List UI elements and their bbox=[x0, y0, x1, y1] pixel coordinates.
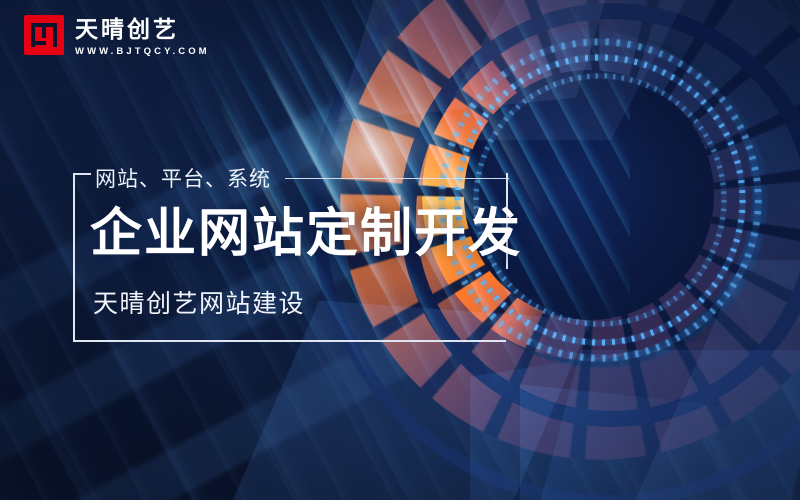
eyebrow-row: 网站、平台、系统 bbox=[95, 163, 515, 193]
logo-mark-icon bbox=[24, 15, 64, 55]
brand-logo[interactable]: 天晴创艺 WWW.BJTQCY.COM bbox=[24, 15, 210, 58]
logo-website-url: WWW.BJTQCY.COM bbox=[75, 45, 210, 58]
frame-left-rule bbox=[73, 173, 75, 342]
page-title: 企业网站定制开发 bbox=[90, 203, 522, 265]
logo-text-group: 天晴创艺 WWW.BJTQCY.COM bbox=[75, 15, 210, 58]
frame-bottom-rule bbox=[73, 340, 506, 342]
promo-banner: 天晴创艺 WWW.BJTQCY.COM 网站、平台、系统 企业网站定制开发 天晴… bbox=[0, 0, 800, 500]
eyebrow-text: 网站、平台、系统 bbox=[95, 163, 271, 193]
frame-top-left-rule bbox=[73, 173, 91, 175]
page-subtitle: 天晴创艺网站建设 bbox=[93, 288, 305, 320]
logo-company-name: 天晴创艺 bbox=[75, 16, 210, 42]
eyebrow-rule bbox=[285, 178, 509, 179]
